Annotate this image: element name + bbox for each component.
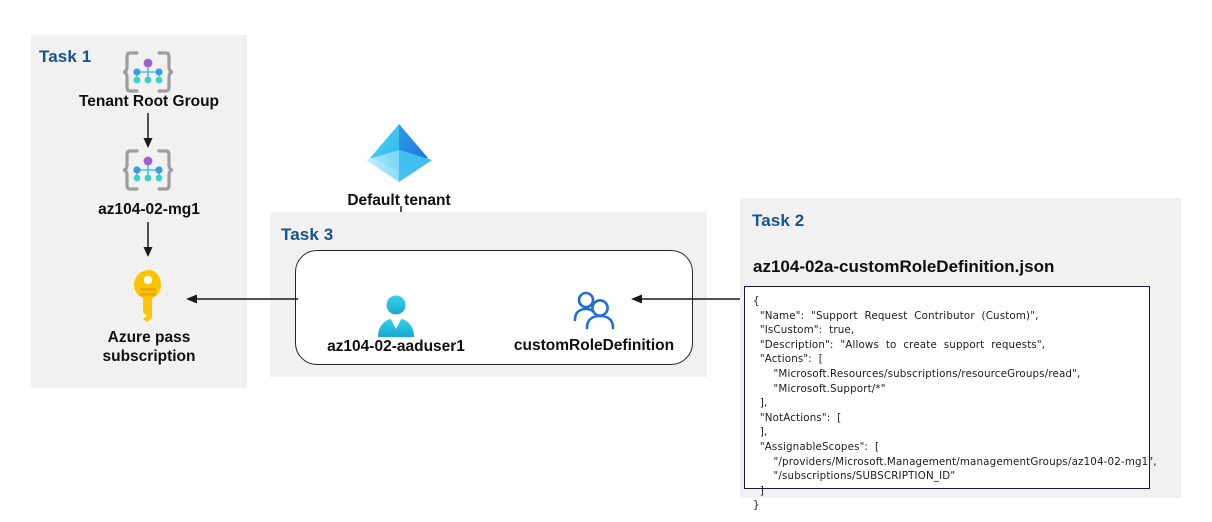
code-line: ] [753,484,1149,499]
management-group-label: az104-02-mg1 [38,200,260,219]
code-line: ], [753,396,1149,411]
task3-label: Task 3 [281,225,333,245]
code-line: "Microsoft.Resources/subscriptions/resou… [753,367,1149,382]
arrow-mg-to-subscription [135,222,161,263]
code-line: ], [753,425,1149,440]
code-line: "AssignableScopes": [ [753,440,1149,455]
code-line: } [753,498,1149,513]
code-line: "Description": "Allows to create support… [753,338,1149,353]
subscription-label-line1: Azure pass [108,329,191,346]
azure-tenant-icon [358,118,440,190]
code-line: "Actions": [ [753,352,1149,367]
code-line: "/providers/Microsoft.Management/managem… [753,455,1149,470]
task2-label: Task 2 [752,211,804,231]
management-group-icon [123,50,173,94]
code-line: "Name": "Support Request Contributor (Cu… [753,309,1149,324]
arrow-task2-to-role [631,291,741,312]
task1-label: Task 1 [39,47,91,67]
management-group-icon [123,148,173,192]
arrow-task3-to-subscription [186,291,298,312]
role-users-icon [570,288,618,332]
json-filename: az104-02a-customRoleDefinition.json [753,257,1054,277]
code-line: { [753,294,1149,309]
custom-role-definition-label: customRoleDefinition [494,336,694,355]
code-line: "NotActions": [ [753,411,1149,426]
user-icon [373,293,419,339]
code-line: "IsCustom": true, [753,323,1149,338]
tenant-root-group-label: Tenant Root Group [38,92,260,111]
key-icon [128,268,170,324]
code-line: "Microsoft.Support/*" [753,382,1149,397]
code-line: "/subscriptions/SUBSCRIPTION_ID" [753,469,1149,484]
subscription-label: Azure pass subscription [38,328,260,366]
aad-user-label: az104-02-aaduser1 [296,337,496,356]
subscription-label-line2: subscription [102,348,195,365]
json-code-block: { "Name": "Support Request Contributor (… [744,286,1150,489]
